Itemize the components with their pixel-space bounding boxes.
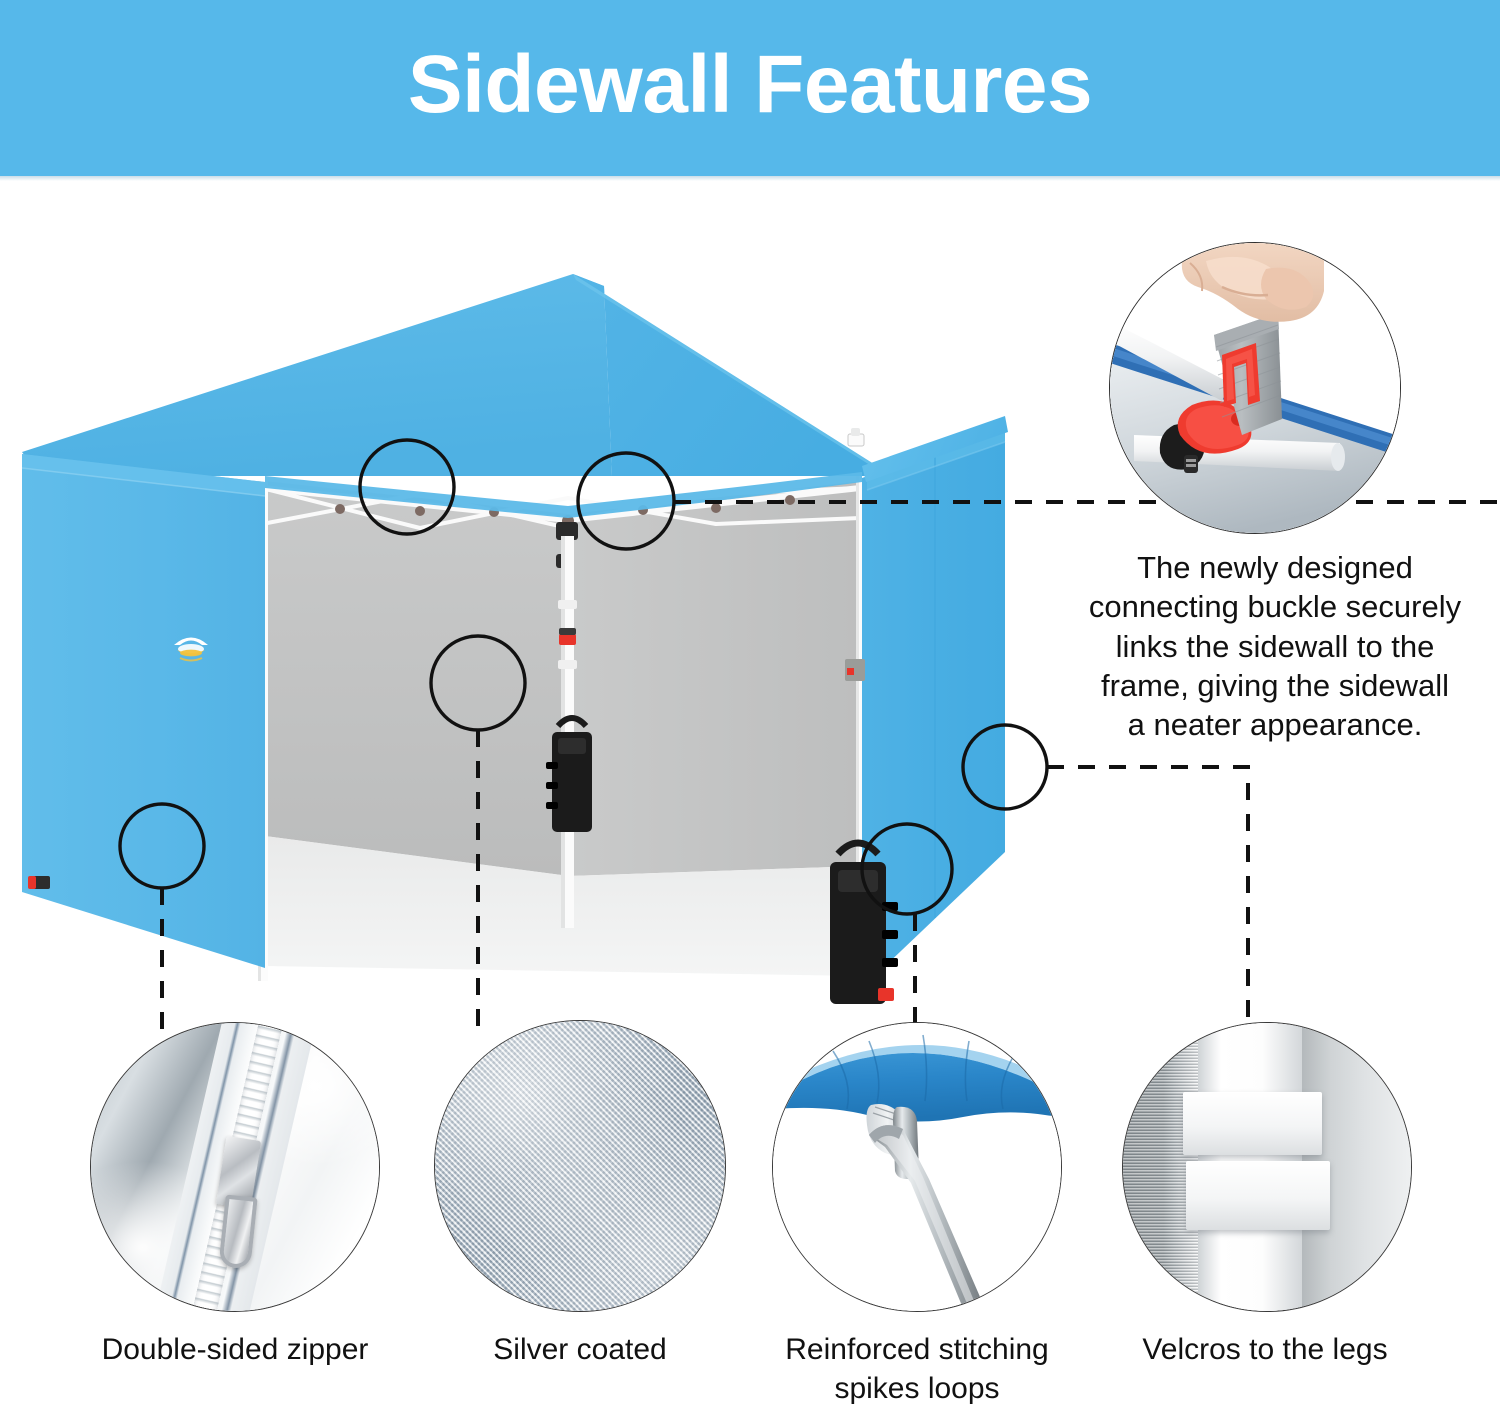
crown-shade-logo: [168, 628, 214, 668]
inset-photo-velcros-to-the-legs: [1122, 1022, 1412, 1312]
caption-double-sided-zipper: Double-sided zipper: [60, 1330, 410, 1369]
caption-silver-coated: Silver coated: [420, 1330, 740, 1369]
caption-stitching-line-2: spikes loops: [757, 1369, 1077, 1408]
buckle-text-line-4: frame, giving the sidewall: [1060, 666, 1490, 705]
buckle-text-line-3: links the sidewall to the: [1060, 627, 1490, 666]
inset-photo-double-sided-zipper: [90, 1022, 380, 1312]
silver-fabric-texture: [435, 1021, 725, 1311]
canopy-roof: [22, 274, 881, 476]
infographic-page: Sidewall Features: [0, 0, 1500, 1416]
caption-reinforced-stitching-spikes-loops: Reinforced stitching spikes loops: [757, 1330, 1077, 1408]
caption-velcros-to-the-legs: Velcros to the legs: [1100, 1330, 1430, 1369]
buckle-text-line-1: The newly designed: [1060, 548, 1490, 587]
buckle-text-line-2: connecting buckle securely: [1060, 587, 1490, 626]
inset-photo-silver-coated: [434, 1020, 726, 1312]
inset-photo-connecting-buckle: [1109, 242, 1401, 534]
header-banner: Sidewall Features: [0, 0, 1500, 176]
velcro-strap-upper: [1183, 1092, 1321, 1155]
velcro-strap-lower: [1186, 1161, 1330, 1230]
leg-sandbag-weight-front: [546, 718, 592, 832]
front-sidewall: [22, 454, 265, 968]
caption-stitching-line-1: Reinforced stitching: [757, 1330, 1077, 1369]
canopy-tent-illustration: [0, 176, 1060, 1036]
buckle-text-line-5: a neater appearance.: [1060, 705, 1490, 744]
inset-photo-reinforced-stitching-spikes-loops: [772, 1022, 1062, 1312]
leader-velcro: [1047, 767, 1248, 1040]
buckle-description-text: The newly designed connecting buckle sec…: [1060, 548, 1490, 745]
page-title: Sidewall Features: [408, 44, 1092, 132]
